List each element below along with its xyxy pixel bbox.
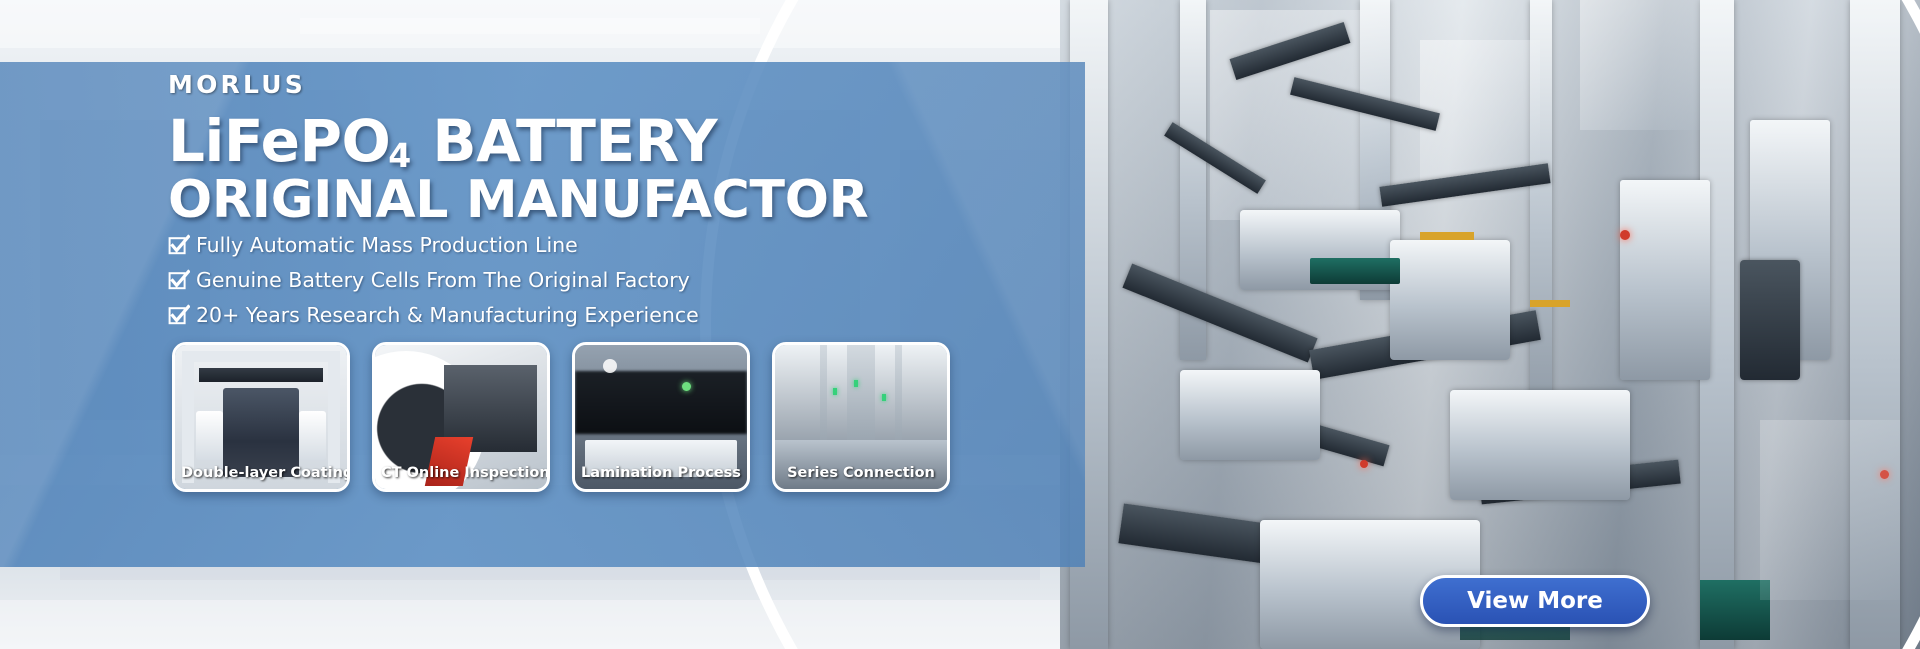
feature-item-label: 20+ Years Research & Manufacturing Exper… (196, 303, 699, 327)
hero-banner: MORLUS LiFePO4 BATTERY ORIGINAL MANUFACT… (0, 0, 1920, 649)
process-card-caption: Lamination Process (575, 461, 747, 489)
feature-list: Fully Automatic Mass Production Line Gen… (168, 228, 699, 333)
feature-item: Fully Automatic Mass Production Line (168, 228, 699, 262)
process-card-series-connection[interactable]: Series Connection (772, 342, 950, 492)
feature-item: 20+ Years Research & Manufacturing Exper… (168, 298, 699, 332)
headline-formula-prefix: LiFePO (168, 107, 390, 175)
brand-logo: MORLUS (168, 70, 306, 99)
headline-line-2: ORIGINAL MANUFACTOR (168, 172, 868, 228)
checkbox-checked-icon (168, 269, 190, 291)
checkbox-checked-icon (168, 234, 190, 256)
feature-item-label: Genuine Battery Cells From The Original … (196, 268, 690, 292)
feature-item-label: Fully Automatic Mass Production Line (196, 233, 578, 257)
process-card-lamination-process[interactable]: Lamination Process (572, 342, 750, 492)
background-photo-right (1060, 0, 1920, 649)
process-card-caption: CT Online Inspection (375, 461, 547, 489)
process-card-double-layer-coating[interactable]: Double-layer Coating (172, 342, 350, 492)
view-more-button[interactable]: View More (1420, 575, 1650, 627)
process-card-caption: Double-layer Coating (175, 461, 347, 489)
headline-formula-suffix: BATTERY (413, 107, 717, 175)
checkbox-checked-icon (168, 304, 190, 326)
process-card-caption: Series Connection (775, 461, 947, 489)
feature-item: Genuine Battery Cells From The Original … (168, 263, 699, 297)
process-card-ct-online-inspection[interactable]: CT Online Inspection (372, 342, 550, 492)
process-thumbnail-list: Double-layer Coating CT Online Inspectio… (172, 342, 950, 492)
